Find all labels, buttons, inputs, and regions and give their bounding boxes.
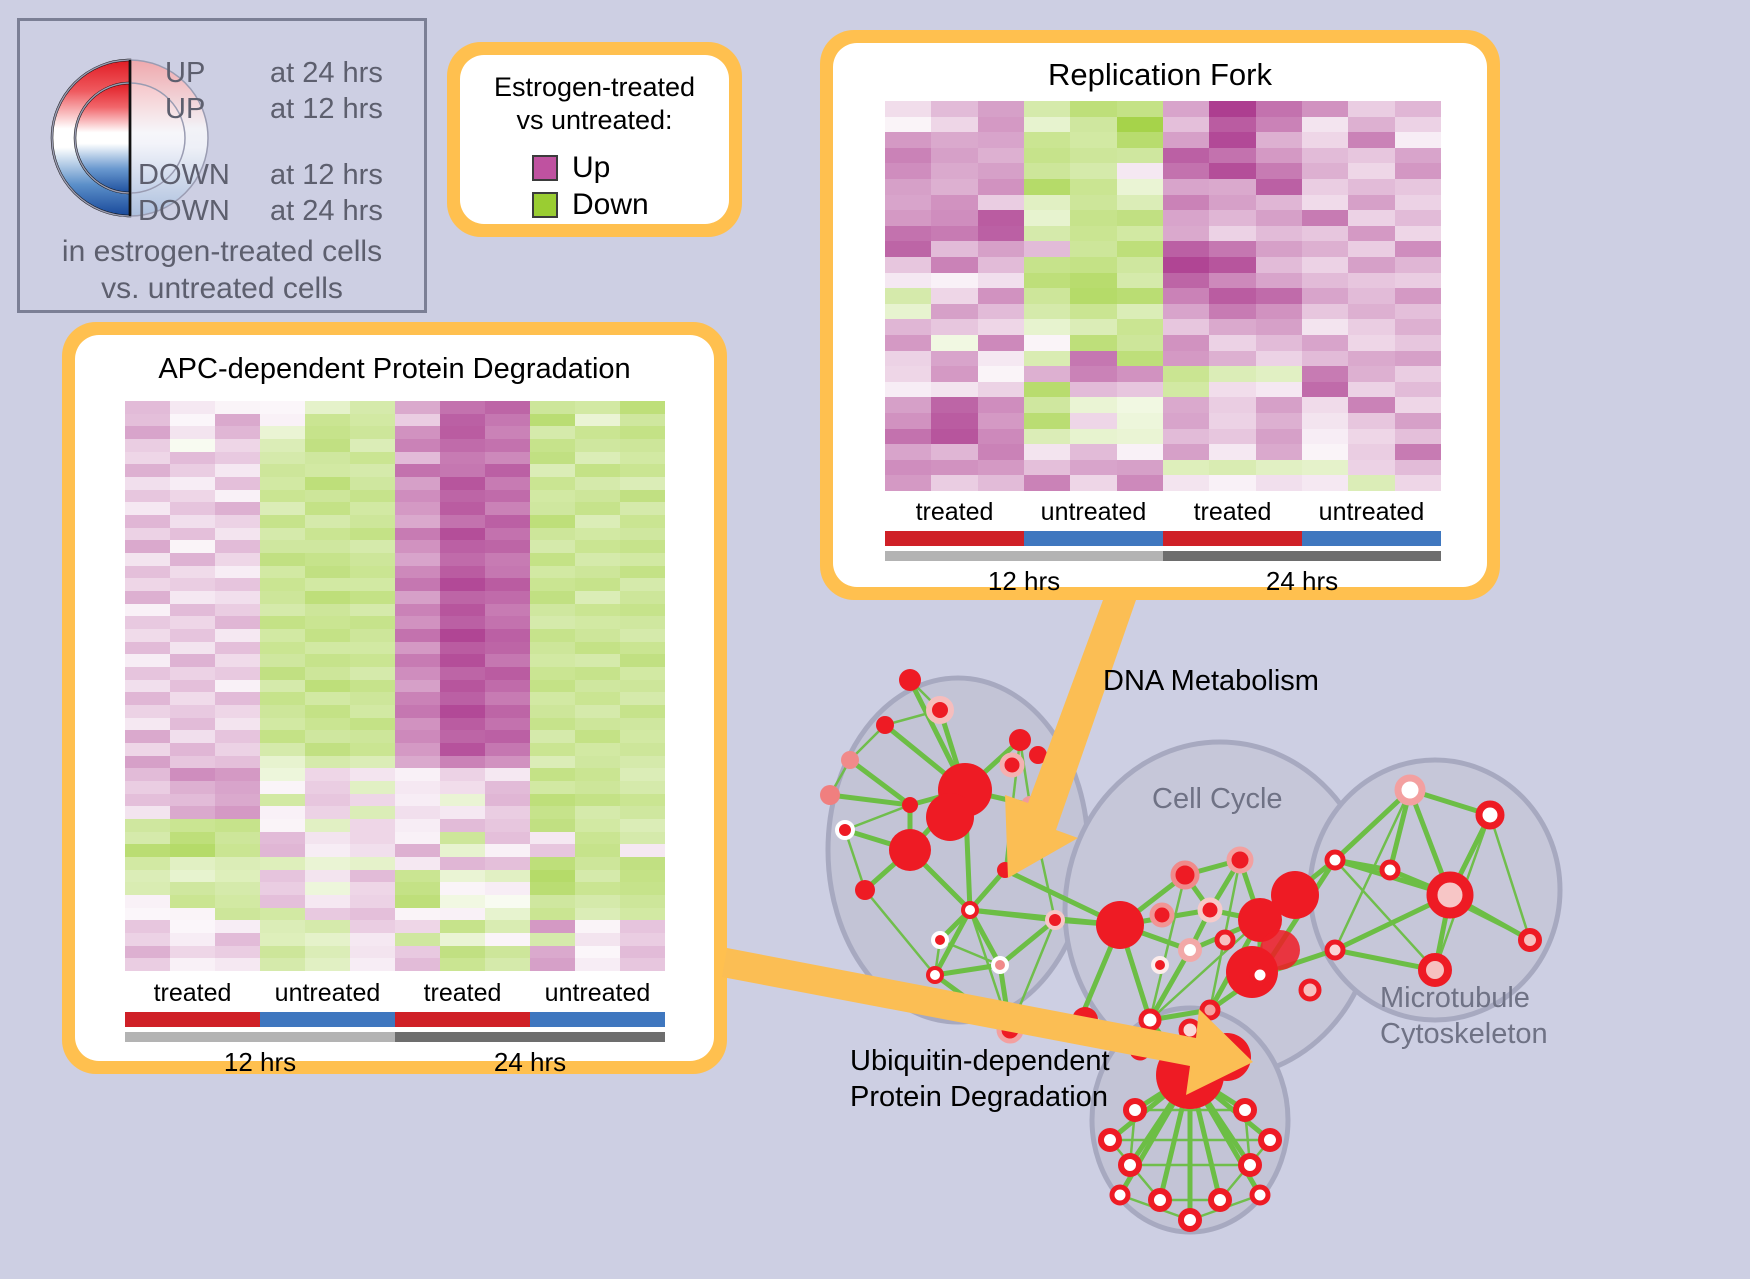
heat-cell [1024, 117, 1070, 133]
heat-cell [350, 680, 395, 693]
heat-cell [885, 226, 931, 242]
heat-cell [530, 578, 575, 591]
heat-cell [395, 730, 440, 743]
heat-cell [978, 101, 1024, 117]
heat-cell [1348, 444, 1394, 460]
heat-cell [395, 477, 440, 490]
heat-cell [1302, 179, 1348, 195]
heat-cell [485, 895, 530, 908]
heat-cell [260, 743, 305, 756]
heat-cell [530, 832, 575, 845]
heat-cell [620, 553, 665, 566]
heat-cell [1117, 351, 1163, 367]
heat-cell [620, 604, 665, 617]
legend-item-down: Down [532, 188, 649, 222]
heat-cell [260, 718, 305, 731]
rf-bar-treated-12 [885, 531, 1024, 546]
heat-cell [485, 414, 530, 427]
heat-cell [1302, 117, 1348, 133]
heat-cell [395, 882, 440, 895]
heat-cell [350, 857, 395, 870]
heat-cell [125, 502, 170, 515]
heat-cell [1395, 179, 1441, 195]
heat-cell [530, 477, 575, 490]
heat-cell [885, 319, 931, 335]
key-caption-line2: vs. untreated cells [20, 270, 424, 307]
heat-cell [620, 452, 665, 465]
heat-cell [125, 882, 170, 895]
heat-cell [125, 768, 170, 781]
heat-cell [978, 288, 1024, 304]
heat-cell [530, 768, 575, 781]
rf-bar-untreated-24 [1302, 531, 1441, 546]
heat-cell [125, 781, 170, 794]
heat-cell [575, 528, 620, 541]
heat-cell [1024, 366, 1070, 382]
heat-cell [1395, 210, 1441, 226]
heat-cell [931, 195, 977, 211]
heat-cell [1117, 241, 1163, 257]
heat-cell [575, 426, 620, 439]
heat-cell [1302, 132, 1348, 148]
heat-cell [125, 756, 170, 769]
heat-cell [931, 257, 977, 273]
heat-cell [1348, 179, 1394, 195]
heat-cell [485, 553, 530, 566]
heat-cell [485, 642, 530, 655]
heat-cell [125, 680, 170, 693]
heat-cell [1070, 382, 1116, 398]
heat-cell [885, 148, 931, 164]
heat-cell [485, 819, 530, 832]
heat-cell [978, 257, 1024, 273]
heat-cell [395, 794, 440, 807]
heat-cell [215, 426, 260, 439]
heat-cell [260, 844, 305, 857]
heat-cell [530, 490, 575, 503]
heat-cell [170, 705, 215, 718]
heat-cell [1117, 117, 1163, 133]
heat-cell [485, 844, 530, 857]
heat-cell [350, 604, 395, 617]
heat-cell [620, 654, 665, 667]
heat-cell [1395, 117, 1441, 133]
heat-cell [440, 654, 485, 667]
heat-cell [575, 946, 620, 959]
heat-cell [931, 444, 977, 460]
heat-cell [485, 857, 530, 870]
heat-cell [485, 528, 530, 541]
heat-cell [350, 502, 395, 515]
heat-cell [215, 692, 260, 705]
heat-cell [530, 705, 575, 718]
heat-cell [350, 819, 395, 832]
heat-cell [575, 401, 620, 414]
heat-cell [530, 540, 575, 553]
heat-cell [1302, 335, 1348, 351]
heat-cell [350, 540, 395, 553]
heat-cell [350, 490, 395, 503]
heat-cell [260, 502, 305, 515]
heat-cell [305, 806, 350, 819]
heat-cell [260, 870, 305, 883]
heat-cell [440, 591, 485, 604]
apc-bar-treated-24 [395, 1012, 530, 1027]
heat-cell [395, 857, 440, 870]
heat-cell [1395, 366, 1441, 382]
heat-cell [1256, 429, 1302, 445]
heat-cell [125, 920, 170, 933]
heat-cell [1209, 351, 1255, 367]
heat-cell [485, 540, 530, 553]
heat-cell [305, 908, 350, 921]
heat-cell [170, 591, 215, 604]
heat-cell [1302, 257, 1348, 273]
heat-cell [215, 933, 260, 946]
heat-cell [125, 718, 170, 731]
heat-cell [620, 895, 665, 908]
heat-cell [978, 210, 1024, 226]
heat-cell [305, 882, 350, 895]
heat-cell [931, 475, 977, 491]
heat-cell [170, 439, 215, 452]
heat-cell [350, 654, 395, 667]
key-time-down-12: at 12 hrs [270, 159, 383, 192]
heat-cell [1395, 413, 1441, 429]
heat-cell [170, 819, 215, 832]
heat-cell [620, 819, 665, 832]
heat-cell [125, 477, 170, 490]
heat-cell [260, 452, 305, 465]
heat-cell [170, 857, 215, 870]
heat-cell [170, 756, 215, 769]
apc-bar-untreated-24 [530, 1012, 665, 1027]
heat-cell [215, 642, 260, 655]
apc-time-24: 24 hrs [395, 1042, 665, 1078]
heat-cell [125, 414, 170, 427]
heat-cell [1209, 397, 1255, 413]
heat-cell [1117, 475, 1163, 491]
heat-cell [305, 540, 350, 553]
heat-cell [350, 667, 395, 680]
heat-cell [1117, 319, 1163, 335]
heat-cell [978, 366, 1024, 382]
heat-cell [260, 781, 305, 794]
heat-cell [440, 895, 485, 908]
heat-cell [485, 566, 530, 579]
heat-cell [305, 692, 350, 705]
heat-cell [395, 578, 440, 591]
heat-cell [1024, 351, 1070, 367]
heat-cell [485, 958, 530, 971]
heat-cell [395, 832, 440, 845]
heat-cell [575, 908, 620, 921]
heat-cell [1024, 319, 1070, 335]
heat-cell [485, 920, 530, 933]
heat-cell [1395, 351, 1441, 367]
heat-cell [125, 743, 170, 756]
heat-cell [575, 439, 620, 452]
heat-cell [215, 680, 260, 693]
heat-cell [485, 882, 530, 895]
heat-cell [440, 832, 485, 845]
heat-cell [170, 654, 215, 667]
heat-cell [350, 844, 395, 857]
heat-cell [1024, 101, 1070, 117]
heat-cell [485, 908, 530, 921]
heat-cell [1070, 195, 1116, 211]
heat-cell [170, 743, 215, 756]
heat-cell [1070, 163, 1116, 179]
heat-cell [485, 502, 530, 515]
rf-bar-untreated-12 [1024, 531, 1163, 546]
heat-cell [1070, 475, 1116, 491]
heat-cell [215, 832, 260, 845]
heat-cell [395, 642, 440, 655]
heat-cell [170, 452, 215, 465]
heat-cell [395, 933, 440, 946]
heat-cell [1117, 179, 1163, 195]
heat-cell [1256, 319, 1302, 335]
heat-cell [125, 832, 170, 845]
heat-cell [440, 566, 485, 579]
heat-cell [1163, 319, 1209, 335]
apc-treatment-0: treated [125, 979, 260, 1012]
heat-cell [125, 490, 170, 503]
heat-cell [1256, 475, 1302, 491]
heat-cell [305, 452, 350, 465]
heat-cell [530, 439, 575, 452]
heat-cell [1348, 241, 1394, 257]
heat-cell [620, 667, 665, 680]
heat-cell [885, 304, 931, 320]
heat-cell [485, 591, 530, 604]
heat-cell [575, 616, 620, 629]
heat-cell [1348, 429, 1394, 445]
heat-cell [1302, 397, 1348, 413]
heat-cell [440, 401, 485, 414]
heat-cell [1209, 163, 1255, 179]
heat-cell [1209, 288, 1255, 304]
heat-cell [1256, 382, 1302, 398]
heat-cell [215, 730, 260, 743]
heat-cell [215, 781, 260, 794]
heat-cell [215, 794, 260, 807]
heat-cell [1070, 257, 1116, 273]
heat-cell [125, 933, 170, 946]
heat-cell [215, 743, 260, 756]
heat-cell [215, 464, 260, 477]
heat-cell [1024, 413, 1070, 429]
heat-cell [1163, 179, 1209, 195]
heat-cell [1302, 304, 1348, 320]
heat-cell [350, 578, 395, 591]
heat-cell [620, 616, 665, 629]
heat-cell [1302, 475, 1348, 491]
heat-cell [1209, 132, 1255, 148]
heat-cell [575, 540, 620, 553]
heat-cell [1209, 241, 1255, 257]
heat-cell [350, 756, 395, 769]
heat-cell [1348, 335, 1394, 351]
heat-cell [978, 444, 1024, 460]
rf-treatment-0: treated [885, 498, 1024, 531]
heat-cell [1209, 304, 1255, 320]
heat-cell [395, 439, 440, 452]
heat-cell [620, 528, 665, 541]
heat-cell [485, 439, 530, 452]
heat-cell [215, 806, 260, 819]
heat-cell [395, 743, 440, 756]
legend-down-label: Down [572, 188, 649, 222]
heat-cell [485, 477, 530, 490]
heat-cell [1117, 413, 1163, 429]
heat-cell [530, 566, 575, 579]
heat-cell [350, 414, 395, 427]
heat-cell [620, 832, 665, 845]
heat-cell [215, 553, 260, 566]
heat-cell [260, 895, 305, 908]
heat-cell [125, 806, 170, 819]
rf-time-color-bar [885, 551, 1441, 561]
heat-cell [1117, 195, 1163, 211]
heat-cell [215, 946, 260, 959]
heat-cell [575, 730, 620, 743]
heat-cell [305, 743, 350, 756]
heat-cell [170, 642, 215, 655]
heat-cell [350, 629, 395, 642]
apc-treatment-2: treated [395, 979, 530, 1012]
heat-cell [530, 895, 575, 908]
heat-cell [1348, 413, 1394, 429]
heat-cell [485, 578, 530, 591]
heat-cell [1302, 226, 1348, 242]
heat-cell [620, 705, 665, 718]
rf-treatment-color-bar [885, 531, 1441, 546]
heat-cell [1209, 335, 1255, 351]
heat-cell [978, 397, 1024, 413]
heat-cell [440, 857, 485, 870]
heat-cell [620, 692, 665, 705]
heat-cell [1395, 257, 1441, 273]
heat-cell [170, 730, 215, 743]
heat-cell [305, 718, 350, 731]
heat-cell [350, 832, 395, 845]
heat-cell [1395, 460, 1441, 476]
heat-cell [1256, 163, 1302, 179]
heat-cell [125, 844, 170, 857]
heat-cell [395, 566, 440, 579]
rf-time-12: 12 hrs [885, 561, 1163, 597]
heat-cell [575, 718, 620, 731]
heat-cell [395, 920, 440, 933]
heat-cell [1117, 132, 1163, 148]
heat-cell [885, 366, 931, 382]
heat-cell [440, 578, 485, 591]
rf-treatment-labels: treated untreated treated untreated [885, 498, 1441, 531]
heat-cell [170, 629, 215, 642]
heat-cell [1348, 288, 1394, 304]
heat-cell [485, 426, 530, 439]
heat-cell [575, 958, 620, 971]
heat-cell [485, 756, 530, 769]
heat-cell [885, 241, 931, 257]
heat-cell [125, 819, 170, 832]
heat-cell [1117, 273, 1163, 289]
heat-cell [485, 870, 530, 883]
heat-cell [1209, 382, 1255, 398]
heat-cell [350, 882, 395, 895]
heat-cell [485, 743, 530, 756]
heat-cell [1070, 273, 1116, 289]
heat-cell [305, 844, 350, 857]
heat-cell [125, 528, 170, 541]
heat-cell [1256, 460, 1302, 476]
heat-cell [350, 718, 395, 731]
heat-cell [885, 179, 931, 195]
heat-cell [350, 439, 395, 452]
heat-cell [978, 319, 1024, 335]
up-swatch-icon [532, 155, 558, 181]
heat-cell [305, 591, 350, 604]
apc-treatment-labels: treated untreated treated untreated [125, 979, 665, 1012]
heat-cell [170, 908, 215, 921]
heat-cell [350, 895, 395, 908]
heat-cell [1302, 429, 1348, 445]
heat-cell [440, 806, 485, 819]
heat-cell [620, 629, 665, 642]
heat-cell [170, 578, 215, 591]
heat-cell [350, 908, 395, 921]
heat-cell [170, 616, 215, 629]
heat-cell [1256, 148, 1302, 164]
heat-cell [620, 515, 665, 528]
heat-cell [215, 857, 260, 870]
heat-cell [575, 781, 620, 794]
heat-cell [1117, 429, 1163, 445]
apc-timebar-12 [125, 1032, 395, 1042]
heat-cell [350, 477, 395, 490]
heat-cell [440, 882, 485, 895]
apc-time-12: 12 hrs [125, 1042, 395, 1078]
heat-cell [1348, 366, 1394, 382]
heat-cell [440, 477, 485, 490]
heat-cell [1070, 241, 1116, 257]
heat-cell [1348, 460, 1394, 476]
heat-cell [440, 502, 485, 515]
heat-cell [1395, 288, 1441, 304]
heat-cell [978, 117, 1024, 133]
heat-cell [885, 460, 931, 476]
heat-cell [125, 553, 170, 566]
heat-cell [170, 477, 215, 490]
heat-cell [1302, 460, 1348, 476]
heat-cell [620, 946, 665, 959]
heat-cell [305, 705, 350, 718]
heat-cell [620, 882, 665, 895]
heat-cell [260, 933, 305, 946]
rf-timebar-12 [885, 551, 1163, 561]
apc-timebar-24 [395, 1032, 665, 1042]
replication-fork-panel: Replication Fork treated untreated treat… [820, 30, 1500, 600]
heat-cell [620, 806, 665, 819]
heat-cell [931, 460, 977, 476]
heat-cell [485, 768, 530, 781]
heat-cell [931, 210, 977, 226]
heat-cell [440, 629, 485, 642]
heat-cell [260, 604, 305, 617]
heat-cell [1024, 335, 1070, 351]
